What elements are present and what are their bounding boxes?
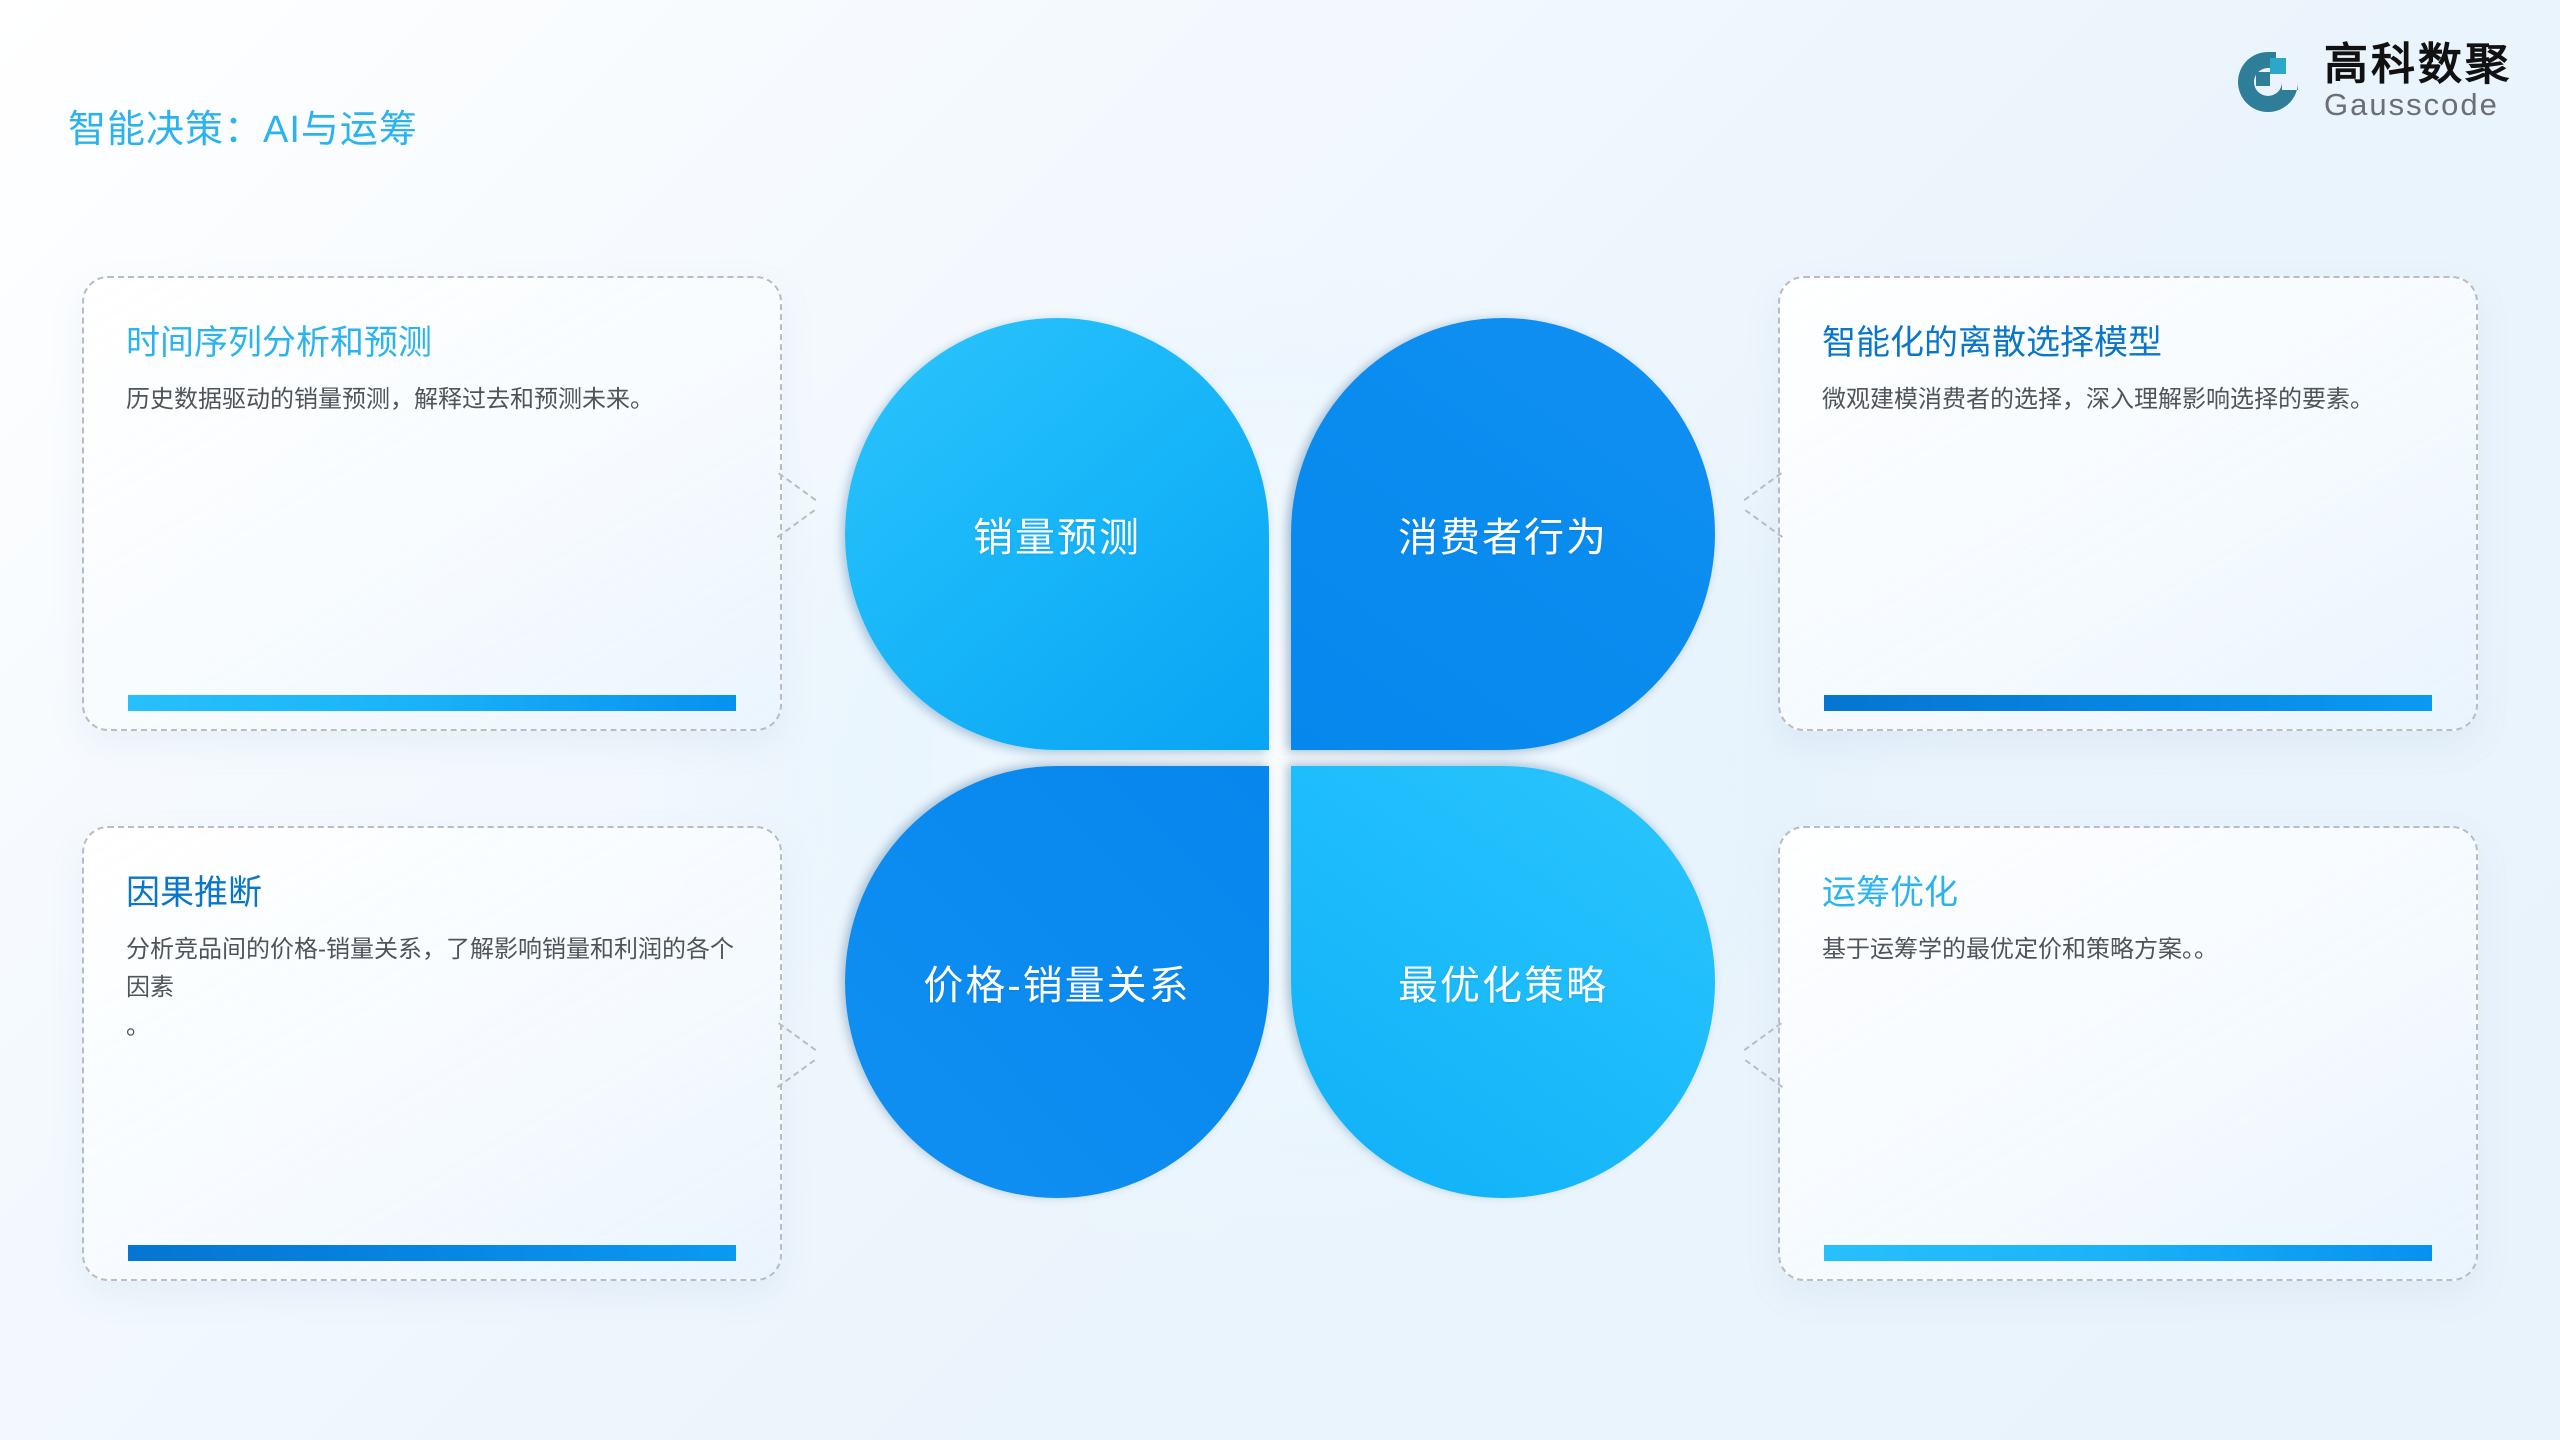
petal-label: 最优化策略 — [1398, 953, 1608, 1011]
card-operations-optimization[interactable]: 运筹优化 基于运筹学的最优定价和策略方案。。 — [1778, 826, 2478, 1281]
card-accent-bar — [1824, 1245, 2432, 1261]
petal-label: 价格-销量关系 — [923, 953, 1190, 1011]
petal-diagram: 销量预测 消费者行为 价格-销量关系 最优化策略 — [845, 318, 1715, 1198]
petal-price-volume-relation[interactable]: 价格-销量关系 — [845, 766, 1269, 1198]
card-title: 运筹优化 — [1822, 872, 2434, 915]
petal-optimal-strategy[interactable]: 最优化策略 — [1291, 766, 1715, 1198]
card-accent-bar — [128, 1245, 736, 1261]
card-body: 分析竞品间的价格-销量关系，了解影响销量和利润的各个因素 。 — [126, 931, 738, 1048]
card-title: 时间序列分析和预测 — [126, 322, 738, 365]
card-causal-inference[interactable]: 因果推断 分析竞品间的价格-销量关系，了解影响销量和利润的各个因素 。 — [82, 826, 782, 1281]
card-title: 智能化的离散选择模型 — [1822, 322, 2434, 365]
card-time-series[interactable]: 时间序列分析和预测 历史数据驱动的销量预测，解释过去和预测未来。 — [82, 276, 782, 731]
card-accent-bar — [1824, 695, 2432, 711]
card-accent-bar — [128, 695, 736, 711]
logo-en-text: Gausscode — [2324, 88, 2512, 122]
petal-label: 销量预测 — [973, 505, 1141, 563]
connector-chevron-icon — [778, 472, 824, 536]
connector-chevron-icon — [1736, 472, 1782, 536]
card-body: 基于运筹学的最优定价和策略方案。。 — [1822, 931, 2434, 970]
card-discrete-choice[interactable]: 智能化的离散选择模型 微观建模消费者的选择，深入理解影响选择的要素。 — [1778, 276, 2478, 731]
logo-cn-text: 高科数聚 — [2324, 42, 2512, 88]
card-title: 因果推断 — [126, 872, 738, 915]
petal-consumer-behavior[interactable]: 消费者行为 — [1291, 318, 1715, 750]
page-title: 智能决策：AI与运筹 — [68, 98, 418, 153]
card-body: 历史数据驱动的销量预测，解释过去和预测未来。 — [126, 381, 738, 420]
gausscode-logo-icon — [2230, 44, 2306, 120]
connector-chevron-icon — [1736, 1022, 1782, 1086]
petal-sales-forecast[interactable]: 销量预测 — [845, 318, 1269, 750]
connector-chevron-icon — [778, 1022, 824, 1086]
card-body: 微观建模消费者的选择，深入理解影响选择的要素。 — [1822, 381, 2434, 420]
brand-logo: 高科数聚 Gausscode — [2230, 42, 2512, 122]
petal-label: 消费者行为 — [1398, 505, 1608, 563]
